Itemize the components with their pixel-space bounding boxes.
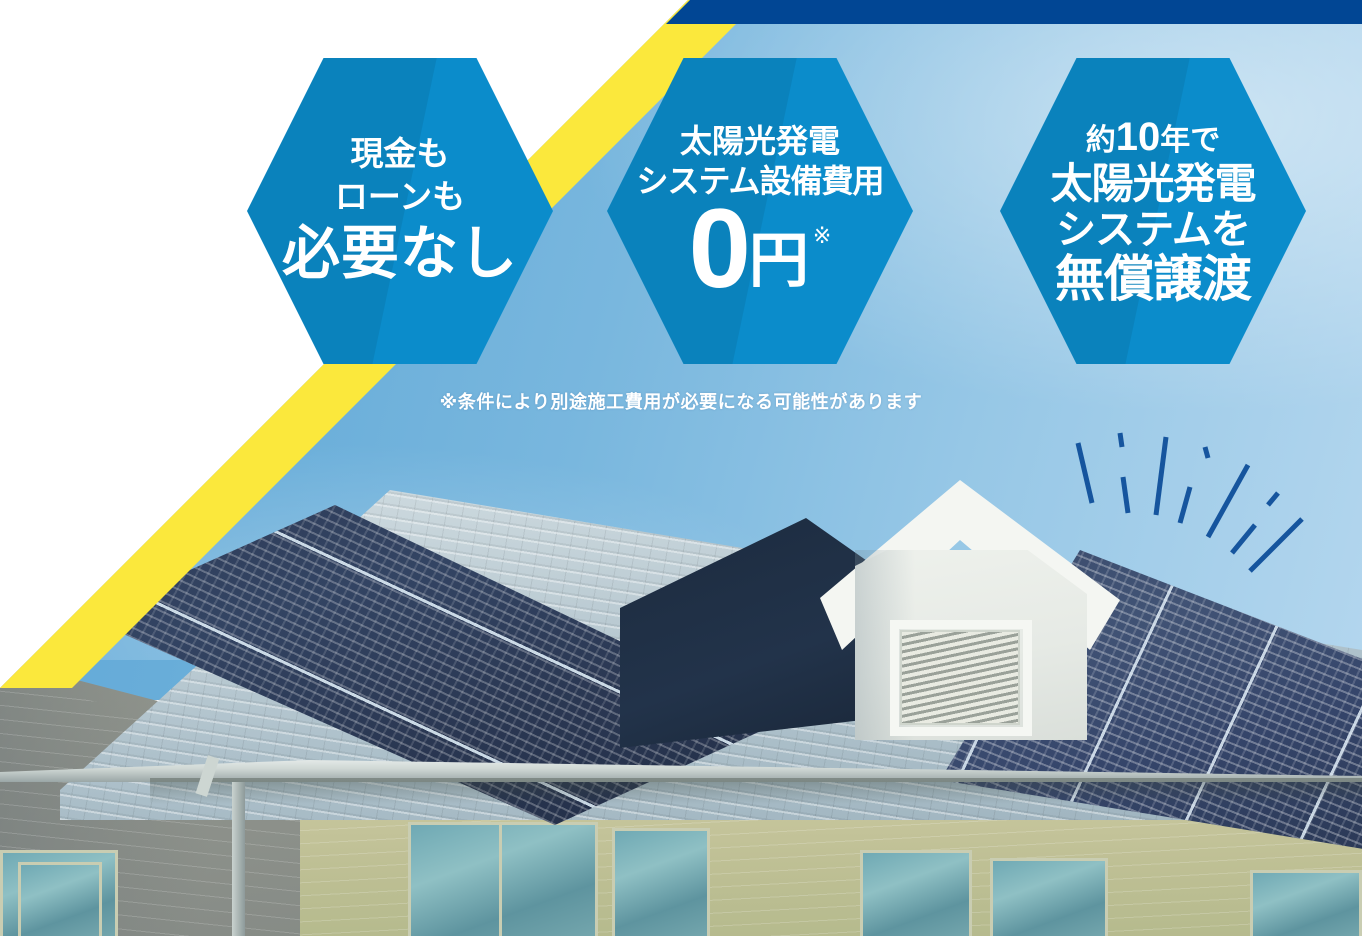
dormer-vent-frame — [890, 620, 1032, 736]
badge-zero-yen-line1: 太陽光発電 — [636, 125, 883, 159]
badge-free-transfer-line2: 太陽光発電 — [1050, 162, 1255, 207]
banner-stage: 現金も ローンも 必要なし 太陽光発電 システム設備費用 0 円 ※ 約10年で… — [0, 0, 1362, 936]
window-right-a — [860, 850, 972, 936]
badge-zero-yen-amount: 0 — [689, 201, 747, 297]
window-center-right — [612, 828, 710, 936]
badge-zero-yen-price: 0 円 ※ — [636, 201, 883, 297]
footnote-mark: ※ — [813, 225, 831, 247]
badge-cash-loan-content: 現金も ローンも 必要なし — [282, 137, 518, 284]
window-center — [408, 822, 598, 936]
downspout — [232, 782, 245, 936]
sparkle-lines-icon — [1060, 425, 1320, 585]
window-mullion — [499, 825, 502, 936]
badge-free-transfer-number: 10 — [1116, 115, 1161, 159]
disclaimer-text: ※条件により別途施工費用が必要になる可能性があります — [0, 388, 1362, 414]
badge-free-transfer-line1: 約10年で — [1050, 116, 1255, 158]
badge-free-transfer-suffix: 年で — [1160, 124, 1220, 157]
window-right-c — [1250, 870, 1362, 936]
badge-cash-loan-line1: 現金も — [282, 137, 518, 172]
badge-free-transfer-prefix: 約 — [1086, 124, 1116, 157]
eave-shadow — [150, 778, 1362, 804]
badge-zero-yen-content: 太陽光発電 システム設備費用 0 円 ※ — [636, 125, 883, 297]
window-left-b — [18, 862, 102, 936]
badge-free-transfer-line4: 無償譲渡 — [1050, 253, 1255, 306]
badge-cash-loan-line2: ローンも — [282, 180, 518, 215]
window-right-b — [990, 858, 1108, 936]
badge-zero-yen-currency: 円 — [749, 231, 809, 291]
badge-cash-loan-line3: 必要なし — [282, 223, 518, 284]
badge-free-transfer-line3: システムを — [1050, 209, 1255, 251]
badge-zero-yen-line2: システム設備費用 — [636, 165, 883, 199]
badge-free-transfer-content: 約10年で 太陽光発電 システムを 無償譲渡 — [1050, 116, 1255, 306]
